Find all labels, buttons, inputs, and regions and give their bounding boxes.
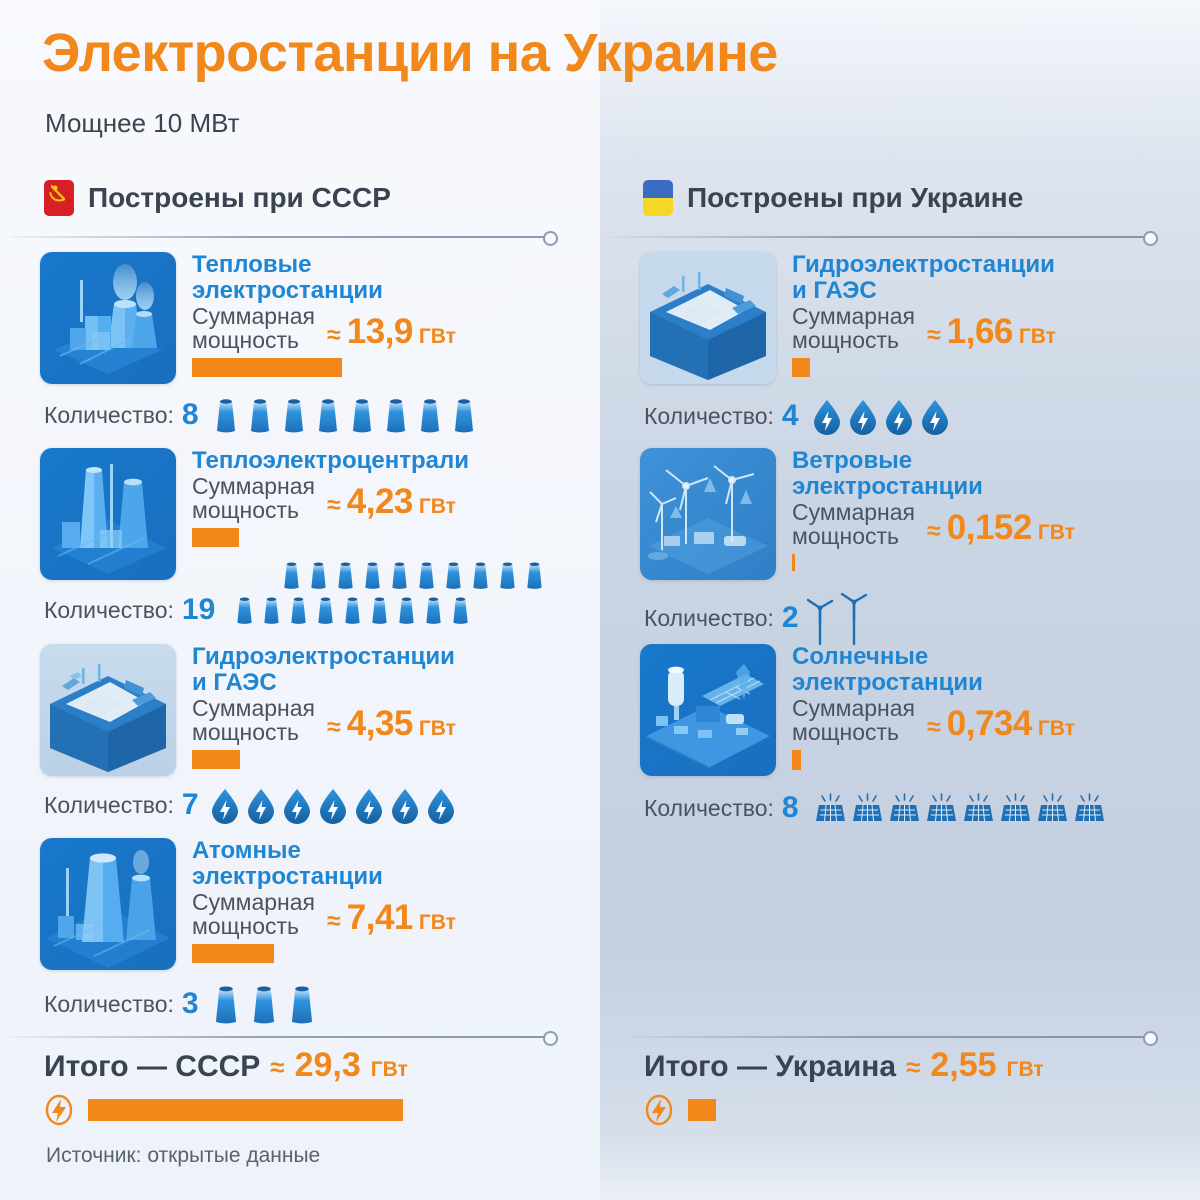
count-line: Количество: 8 [644,791,1105,825]
cooling-tower-icon [420,593,447,627]
category-title: Тепловые электростанции [192,252,600,304]
solar-farm-thumbnail [640,644,776,776]
solar-panel-icon [889,793,920,823]
water-drop-bolt-icon [243,786,279,824]
row-wind[interactable]: Ветровые электростанции Суммарная мощнос… [600,448,1200,638]
rule-knob [543,231,558,246]
capacity-bar [792,554,795,571]
wind-turbine-icon [837,590,871,646]
ussr-flag-icon [44,180,74,216]
capacity-value: ≈ 4,23 ГВт [327,482,456,522]
water-drop-bolt-icon [809,397,845,435]
capacity-label: Суммарная мощность [192,697,315,744]
turbine-icon-group [803,590,871,646]
cooling-tower-icon [312,593,339,627]
hydro-dam-thumbnail [640,252,776,384]
ukraine-flag-icon [643,180,673,216]
cooling-tower-icon [231,593,258,627]
solar-panel-icon [1074,793,1105,823]
category-title: Теплоэлектроцентрали [192,448,600,474]
divider-rule [628,1036,1147,1038]
capacity-value: ≈ 13,9 ГВт [327,312,456,352]
capacity-bar [192,528,239,547]
capacity-value: ≈ 7,41 ГВт [327,898,456,938]
thermal-plant-thumbnail [40,252,176,384]
capacity-bar [192,750,240,769]
nuclear-plant-thumbnail [40,838,176,970]
capacity-value: ≈ 0,152 ГВт [927,508,1075,548]
capacity-value: ≈ 0,734 ГВт [927,704,1075,744]
column-header-ussr: Построены при СССР [44,180,391,216]
category-title: Ветровые электростанции [792,448,1200,500]
tower-icon-group-lower [231,593,474,627]
row-hydro-ua[interactable]: Гидроэлектростанции и ГАЭС Суммарная мощ… [600,252,1200,442]
water-drop-bolt-icon [315,786,351,824]
capacity-bar [792,750,801,770]
column-header-ukraine: Построены при Украине [643,180,1023,216]
cooling-tower-icon [413,397,447,433]
water-drop-bolt-icon [387,786,423,824]
wind-farm-thumbnail [640,448,776,580]
cooling-tower-icon [207,983,245,1025]
cooling-tower-icon [366,593,393,627]
total-bar [88,1099,403,1121]
count-line: Количество: 7 [44,786,459,824]
wind-turbine-icon [803,594,837,646]
total-label: Итого — СССР [44,1050,260,1084]
bolt-circle-icon [644,1094,674,1126]
solar-panel-icon [963,793,994,823]
count-line: Количество: 2 [644,590,871,646]
water-drop-bolt-icon [881,397,917,435]
cooling-tower-icon [413,558,440,592]
rule-knob [1143,231,1158,246]
rule-knob [1143,1031,1158,1046]
page-subtitle: Мощнее 10 МВт [45,108,240,139]
count-line: Количество: 3 [44,983,321,1025]
chp-plant-thumbnail [40,448,176,580]
category-title: Гидроэлектростанции и ГАЭС [192,644,600,696]
hydro-dam-thumbnail [40,644,176,776]
total-label: Итого — Украина [644,1050,896,1084]
source-note: Источник: открытые данные [46,1144,320,1168]
capacity-bar [792,358,810,377]
category-title: Атомные электростанции [192,838,600,890]
column-header-ussr-label: Построены при СССР [88,182,391,214]
tower-icon-group [209,397,481,433]
capacity-label: Суммарная мощность [792,305,915,352]
cooling-tower-icon [243,397,277,433]
cooling-tower-icon [467,558,494,592]
column-header-ukraine-label: Построены при Украине [687,182,1023,214]
water-drop-bolt-icon [279,786,315,824]
water-drop-bolt-icon [423,786,459,824]
solar-panel-icon [1037,793,1068,823]
solar-panel-icon [926,793,957,823]
capacity-value: ≈ 1,66 ГВт [927,312,1056,352]
cooling-tower-icon [305,558,332,592]
cooling-tower-icon [393,593,420,627]
total-ukraine: Итого — Украина ≈ 2,55 ГВт [644,1046,1044,1126]
row-solar[interactable]: Солнечные электростанции Суммарная мощно… [600,644,1200,834]
cooling-tower-icon [283,983,321,1025]
cooling-tower-icon [311,397,345,433]
row-nuclear[interactable]: Атомные электростанции Суммарная мощност… [0,838,600,1028]
cooling-tower-icon [278,558,305,592]
water-drop-bolt-icon [207,786,243,824]
infographic-page: Электростанции на Украине Мощнее 10 МВт … [0,0,1200,1200]
cooling-tower-icon [447,397,481,433]
row-chp[interactable]: Теплоэлектроцентрали Суммарная мощность … [0,448,600,638]
cooling-tower-icon [447,593,474,627]
water-drop-bolt-icon [845,397,881,435]
capacity-bar [192,944,274,963]
solar-panel-icon [815,793,846,823]
row-hydro[interactable]: Гидроэлектростанции и ГАЭС Суммарная мощ… [0,644,600,834]
solar-panel-icon [1000,793,1031,823]
capacity-label: Суммарная мощность [192,891,315,938]
capacity-label: Суммарная мощность [192,305,315,352]
water-drop-bolt-icon [351,786,387,824]
cooling-tower-icon [258,593,285,627]
tower-icon-group [207,983,321,1025]
cooling-tower-icon [285,593,312,627]
category-title: Солнечные электростанции [792,644,1200,696]
capacity-label: Суммарная мощность [192,475,315,522]
solar-icon-group [815,793,1105,823]
category-title: Гидроэлектростанции и ГАЭС [792,252,1200,304]
divider-rule [10,1036,547,1038]
capacity-label: Суммарная мощность [792,697,915,744]
solar-panel-icon [852,793,883,823]
drop-icon-group [207,786,459,824]
cooling-tower-icon [379,397,413,433]
page-title: Электростанции на Украине [42,22,778,84]
cooling-tower-icon [386,558,413,592]
row-thermal[interactable]: Тепловые электростанции Суммарная мощнос… [0,252,600,442]
capacity-bar [192,358,342,377]
divider-rule [10,236,547,238]
cooling-tower-icon [209,397,243,433]
capacity-label: Суммарная мощность [792,501,915,548]
count-line: Количество: 19 [44,593,474,627]
bolt-circle-icon [44,1094,74,1126]
water-drop-bolt-icon [917,397,953,435]
cooling-tower-icon [359,558,386,592]
cooling-tower-icon [345,397,379,433]
cooling-tower-icon [332,558,359,592]
drop-icon-group [809,397,953,435]
divider-rule [610,236,1147,238]
cooling-tower-icon [245,983,283,1025]
count-line: Количество: 8 [44,397,481,433]
cooling-tower-icon [440,558,467,592]
cooling-tower-icon [339,593,366,627]
count-line: Количество: 4 [644,397,953,435]
tower-icon-group-upper [278,558,548,592]
total-bar [688,1099,716,1121]
rule-knob [543,1031,558,1046]
capacity-value: ≈ 4,35 ГВт [327,704,456,744]
cooling-tower-icon [521,558,548,592]
total-ussr: Итого — СССР ≈ 29,3 ГВт [44,1046,408,1126]
cooling-tower-icon [494,558,521,592]
cooling-tower-icon [277,397,311,433]
